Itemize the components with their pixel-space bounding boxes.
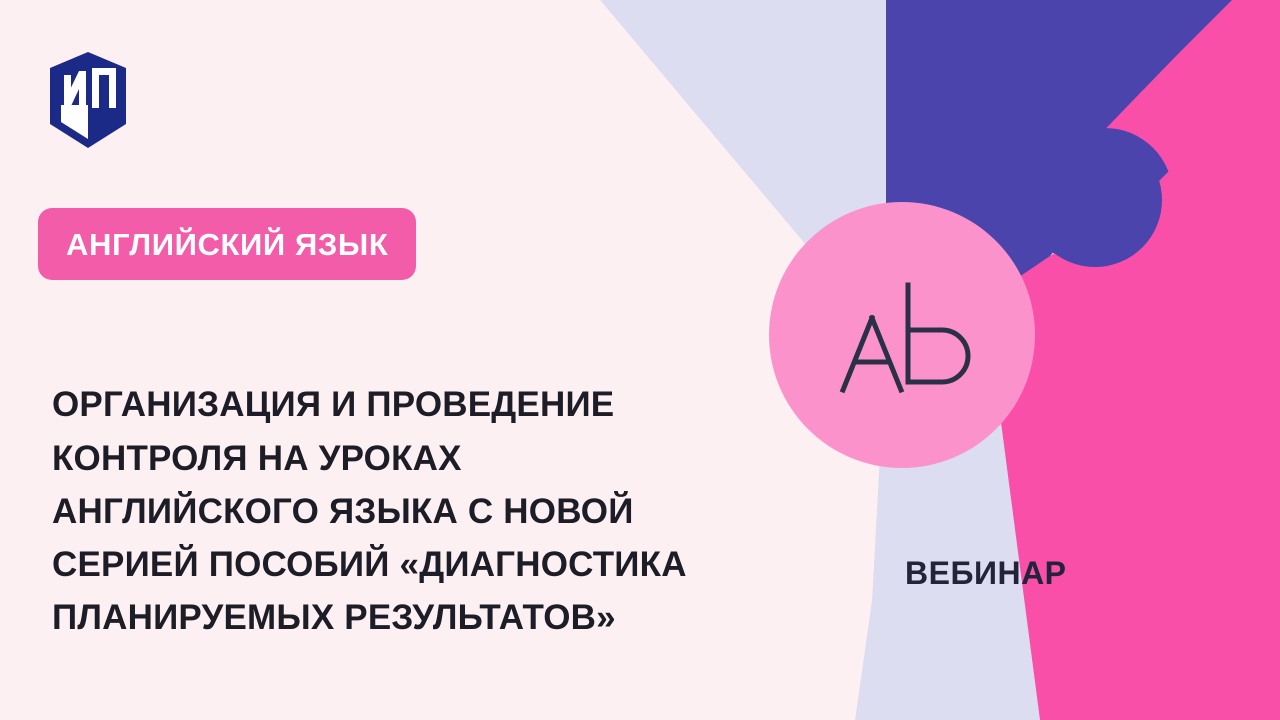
webinar-title-slide: АНГЛИЙСКИЙ ЯЗЫК ОРГАНИЗАЦИЯ И ПРОВЕДЕНИЕ… <box>0 0 1280 720</box>
title-line-1: ОРГАНИЗАЦИЯ И ПРОВЕДЕНИЕ <box>52 378 792 431</box>
event-type-label: ВЕБИНАР <box>905 555 1067 592</box>
title-line-4: СЕРИЕЙ ПОСОБИЙ «ДИАГНОСТИКА <box>52 538 792 591</box>
title-line-2: КОНТРОЛЯ НА УРОКАХ <box>52 432 792 485</box>
page-title: ОРГАНИЗАЦИЯ И ПРОВЕДЕНИЕ КОНТРОЛЯ НА УРО… <box>52 378 792 644</box>
title-line-3: АНГЛИЙСКОГО ЯЗЫКА С НОВОЙ <box>52 485 792 538</box>
subject-badge-label: АНГЛИЙСКИЙ ЯЗЫК <box>66 229 388 260</box>
emblem-circle <box>769 202 1035 468</box>
title-line-5: ПЛАНИРУЕМЫХ РЕЗУЛЬТАТОВ» <box>52 591 792 644</box>
subject-badge: АНГЛИЙСКИЙ ЯЗЫК <box>38 208 416 280</box>
publisher-logo <box>48 50 128 150</box>
